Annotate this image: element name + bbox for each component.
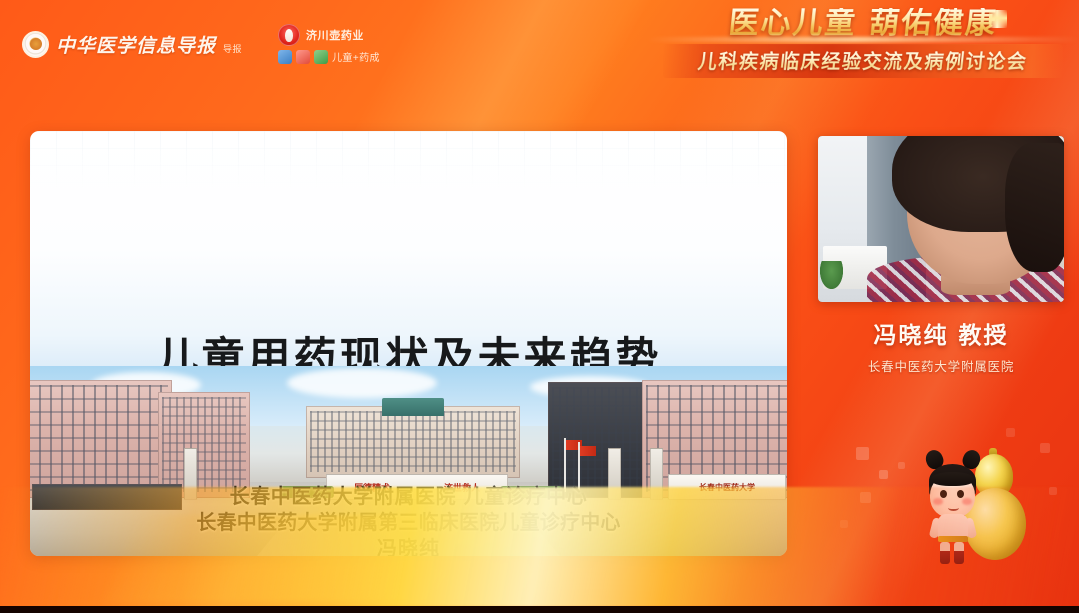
- decor-square: [879, 470, 888, 479]
- presentation-slide[interactable]: 儿童用药现状及未来趋势: [30, 131, 787, 556]
- sponsor-chip-icon: [278, 50, 292, 64]
- video-plant: [820, 261, 842, 289]
- speaker-organization: 长春中医药大学附属医院: [818, 356, 1064, 375]
- child-with-gourd-mascot: [922, 442, 1014, 574]
- decor-square: [1006, 428, 1015, 437]
- logo-bar: 中华医学信息导报 导报 济川壶药业 儿童+药成: [22, 24, 380, 64]
- decor-square: [1040, 443, 1050, 453]
- droplet-icon: [278, 24, 300, 46]
- association-logo-suffix: 导报: [223, 42, 242, 58]
- event-title-sub: 儿科疾病临床经验交流及病例讨论会: [697, 47, 1029, 74]
- event-subtitle-ribbon: 儿科疾病临床经验交流及病例讨论会: [663, 44, 1063, 78]
- event-title-banner: 医心儿童 葫佑健康 儿科疾病临床经验交流及病例讨论会: [663, 8, 1063, 78]
- broadcast-stage: 中华医学信息导报 导报 济川壶药业 儿童+药成 医心儿童 葫佑健康 儿科疾病临床…: [0, 0, 1079, 613]
- letterbox-bar: [0, 606, 1079, 613]
- event-title-main: 医心儿童 葫佑健康: [661, 8, 1064, 40]
- campus-building-center-cap: [382, 398, 444, 416]
- campus-building-right-dark: [548, 382, 644, 498]
- decor-square: [840, 520, 848, 528]
- sponsor-chip-icon: [314, 50, 328, 64]
- association-logo: 中华医学信息导报 导报: [22, 31, 242, 58]
- decor-square: [898, 462, 905, 469]
- decor-square: [856, 447, 869, 460]
- seal-icon: [22, 31, 49, 58]
- decor-square: [860, 492, 871, 503]
- campus-building-left: [30, 380, 172, 498]
- speaker-caption: 冯晓纯 教授 长春中医药大学附属医院: [818, 316, 1064, 375]
- slide-grid-texture: [30, 131, 787, 189]
- slide-subtitle-line2: 长春中医药大学附属第三临床医院儿童诊疗中心: [30, 509, 787, 535]
- child-mascot-icon: [922, 448, 984, 568]
- slide-presenter: 冯晓纯: [30, 535, 787, 556]
- decor-square: [1049, 487, 1057, 495]
- speaker-video-feed[interactable]: [818, 136, 1064, 302]
- video-speaker-hair-side: [1005, 143, 1064, 272]
- slide-subtitle-line1: 长春中医药大学附属医院 儿童诊疗中心: [30, 483, 787, 509]
- sponsor-logo-secondary: 儿童+药成: [278, 49, 380, 64]
- sponsor-logo-primary: 济川壶药业: [278, 24, 380, 46]
- speaker-name: 冯晓纯 教授: [818, 316, 1064, 350]
- sponsor-chip-icon: [296, 50, 310, 64]
- slide-subtitle-block: 长春中医药大学附属医院 儿童诊疗中心 长春中医药大学附属第三临床医院儿童诊疗中心…: [30, 483, 787, 556]
- sponsor-logo-name: 济川壶药业: [306, 27, 364, 43]
- sponsor-logo: 济川壶药业 儿童+药成: [278, 24, 380, 64]
- association-logo-name: 中华医学信息导报: [56, 31, 216, 58]
- campus-flag: [580, 446, 596, 456]
- campus-building-center: [306, 406, 520, 478]
- sponsor-logo-tagline: 儿童+药成: [332, 49, 380, 64]
